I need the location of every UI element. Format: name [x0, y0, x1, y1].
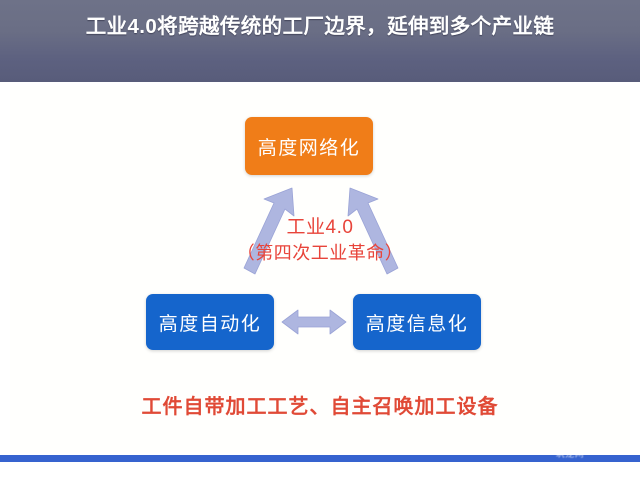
page-title: 工业4.0将跨越传统的工厂边界，延伸到多个产业链: [0, 13, 640, 41]
slide-canvas: 工业4.0将跨越传统的工厂边界，延伸到多个产业链 高度网络化 工业4.0 （第四…: [0, 0, 640, 480]
diagram-node-automation[interactable]: 高度自动化: [146, 294, 274, 350]
diagram-node-automation-label: 高度自动化: [159, 309, 262, 336]
slide-header-band: 工业4.0将跨越传统的工厂边界，延伸到多个产业链: [0, 0, 640, 82]
diagram-node-informatization-label: 高度信息化: [366, 309, 469, 336]
diagram-node-networked[interactable]: 高度网络化: [245, 117, 373, 175]
diagram-center-caption-line1: 工业4.0: [220, 215, 420, 241]
bottom-statement-text: 工件自带加工工艺、自主召唤加工设备: [0, 390, 640, 419]
diagram-center-caption-line2: （第四次工业革命）: [220, 241, 420, 266]
diagram-node-informatization[interactable]: 高度信息化: [353, 294, 481, 350]
diagram-center-caption: 工业4.0 （第四次工业革命）: [220, 215, 420, 266]
footer-watermark: 筑龙网: [500, 446, 640, 462]
diagram-node-networked-label: 高度网络化: [258, 133, 361, 160]
